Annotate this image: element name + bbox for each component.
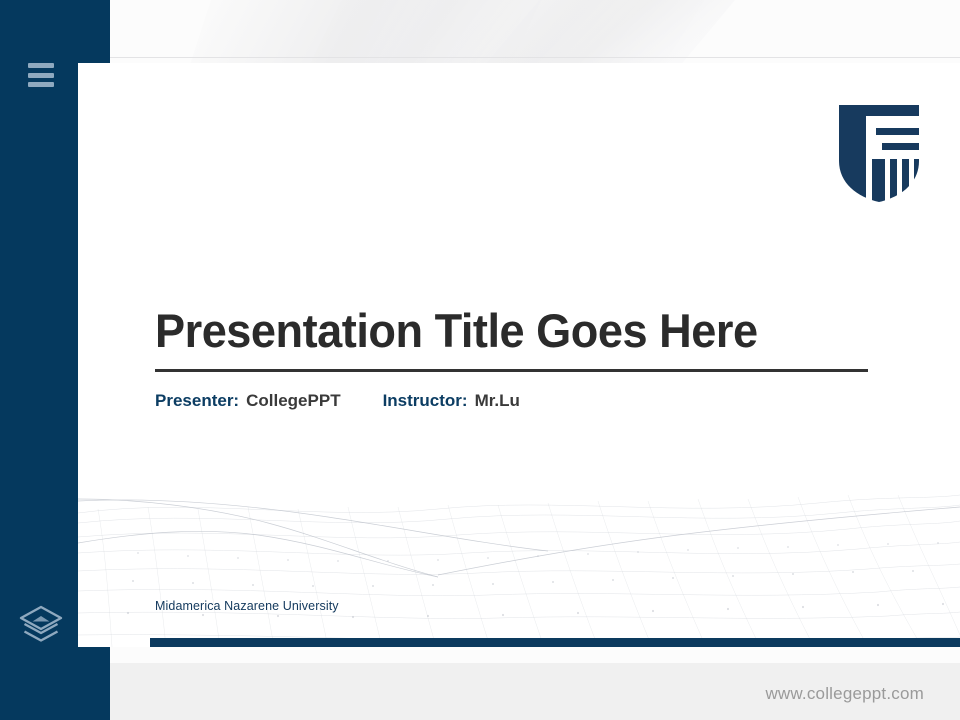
presentation-slide: Presentation Title Goes Here Presenter: … bbox=[78, 63, 960, 647]
background-divider bbox=[110, 57, 960, 58]
hamburger-bar bbox=[28, 82, 54, 87]
slide-bottom-bar bbox=[150, 638, 960, 647]
instructor-label: Instructor: bbox=[383, 391, 468, 411]
hamburger-menu-icon[interactable] bbox=[28, 63, 54, 87]
shield-column-crest-logo bbox=[835, 103, 923, 203]
title-block: Presentation Title Goes Here Presenter: … bbox=[155, 306, 870, 411]
column-flutes bbox=[885, 159, 914, 203]
layers-stack-glyph bbox=[16, 602, 66, 650]
university-name: Midamerica Nazarene University bbox=[155, 599, 339, 613]
meta-row: Presenter: CollegePPT Instructor: Mr.Lu bbox=[155, 391, 870, 411]
layers-stack-icon[interactable] bbox=[16, 602, 66, 650]
presenter-label: Presenter: bbox=[155, 391, 239, 411]
instructor-value: Mr.Lu bbox=[475, 391, 520, 411]
wireframe-mesh-terrain bbox=[78, 457, 960, 647]
crest-glyph bbox=[835, 103, 923, 203]
slide-viewer: Presentation Title Goes Here Presenter: … bbox=[0, 0, 960, 720]
hamburger-bar bbox=[28, 63, 54, 68]
footer-url[interactable]: www.collegeppt.com bbox=[765, 684, 924, 704]
page-title: Presentation Title Goes Here bbox=[155, 306, 841, 355]
hamburger-bar bbox=[28, 73, 54, 78]
presenter-value: CollegePPT bbox=[246, 391, 340, 411]
title-divider bbox=[155, 369, 868, 372]
